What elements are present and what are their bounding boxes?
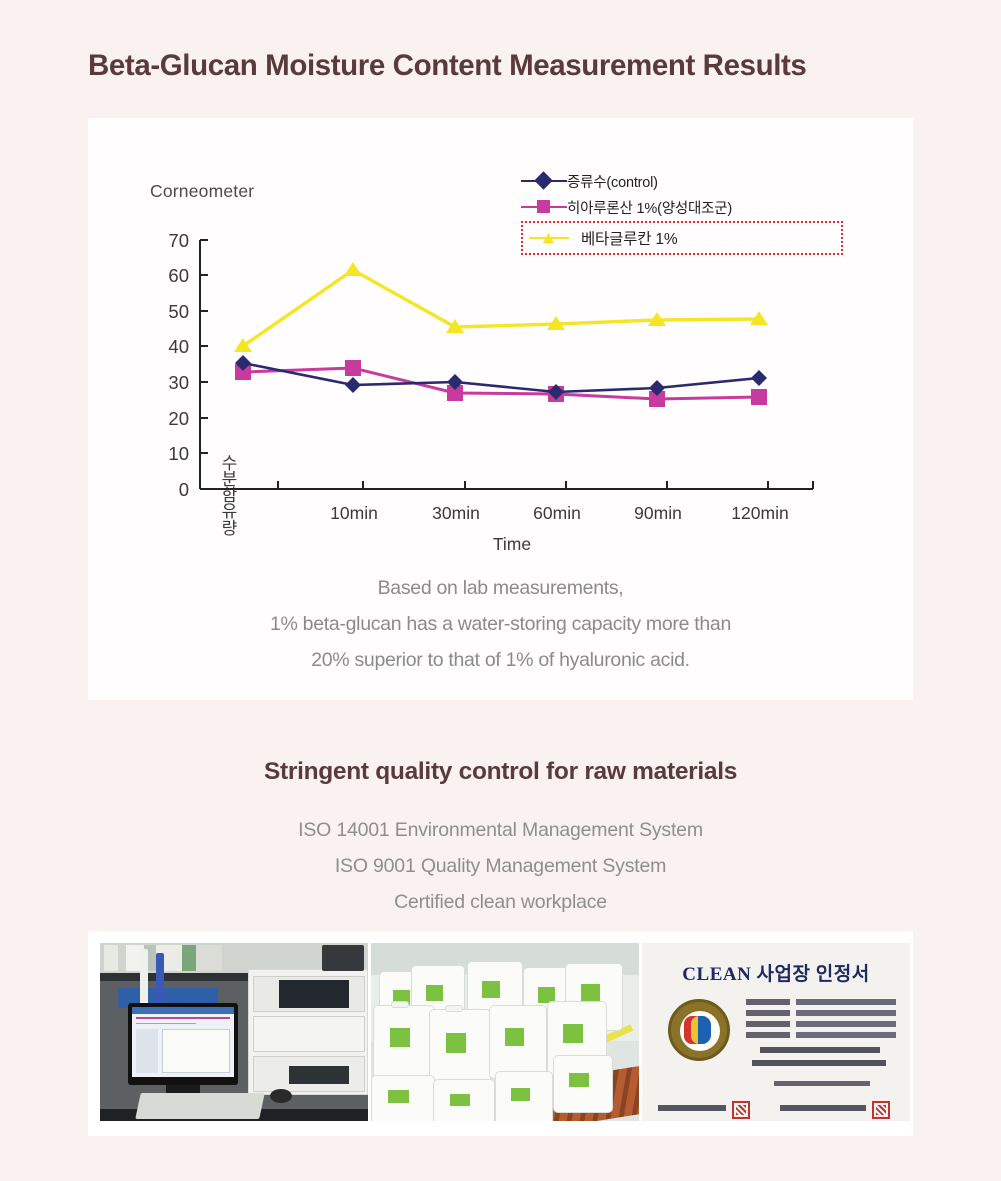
chart-card: Corneometer 증류수(control) 히아루론산 1%(양성대조군) [88, 118, 913, 700]
svg-text:120min: 120min [731, 503, 788, 523]
certificate-date-line [774, 1081, 870, 1086]
svg-text:30: 30 [168, 372, 189, 393]
svg-text:10: 10 [168, 443, 189, 464]
chart-caption: Based on lab measurements, 1% beta-gluca… [88, 570, 913, 678]
svg-text:30min: 30min [432, 503, 480, 523]
certificate-title: CLEAN 사업장 인정서 [642, 959, 910, 986]
svg-text:10min: 10min [330, 503, 378, 523]
svg-text:40: 40 [168, 336, 189, 357]
caption-line-2: 1% beta-glucan has a water-storing capac… [88, 606, 913, 642]
svg-text:0: 0 [179, 479, 189, 500]
certificate-signature-row [652, 1101, 900, 1115]
svg-text:90min: 90min [634, 503, 682, 523]
quality-line-1: ISO 14001 Environmental Management Syste… [0, 812, 1001, 848]
photo-list: CLEAN 사업장 인정서 [100, 943, 910, 1121]
clean-workplace-seal-icon [668, 999, 730, 1061]
page-root: Beta-Glucan Moisture Content Measurement… [0, 0, 1001, 1181]
chart-plot: 70 60 50 40 30 20 10 0 [88, 118, 913, 578]
caption-line-1: Based on lab measurements, [88, 570, 913, 606]
svg-text:20: 20 [168, 408, 189, 429]
raw-material-containers-photo [371, 943, 639, 1121]
certificate-body-text [752, 1047, 892, 1073]
clean-workplace-certificate-photo: CLEAN 사업장 인정서 [642, 943, 910, 1121]
svg-text:70: 70 [168, 230, 189, 251]
svg-text:60: 60 [168, 265, 189, 286]
quality-line-3: Certified clean workplace [0, 884, 1001, 920]
lab-analysis-equipment-photo [100, 943, 368, 1121]
quality-section-title: Stringent quality control for raw materi… [0, 758, 1001, 786]
svg-text:Time: Time [493, 534, 531, 554]
quality-section-lines: ISO 14001 Environmental Management Syste… [0, 812, 1001, 920]
photo-strip-card: CLEAN 사업장 인정서 [88, 931, 913, 1136]
svg-text:50: 50 [168, 301, 189, 322]
chart-area: Corneometer 증류수(control) 히아루론산 1%(양성대조군) [88, 118, 913, 578]
caption-line-3: 20% superior to that of 1% of hyaluronic… [88, 642, 913, 678]
quality-line-2: ISO 9001 Quality Management System [0, 848, 1001, 884]
svg-text:60min: 60min [533, 503, 581, 523]
page-title: Beta-Glucan Moisture Content Measurement… [88, 49, 806, 83]
certificate-detail-lines [746, 999, 896, 1043]
